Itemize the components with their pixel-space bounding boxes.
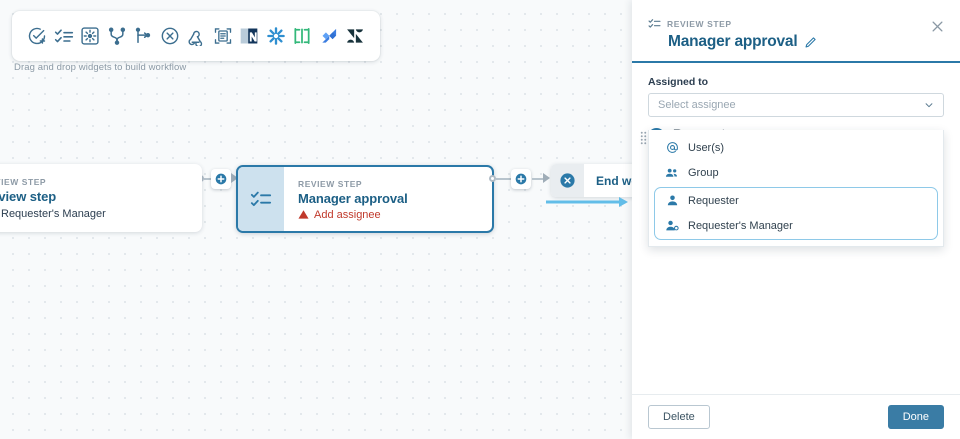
- workflow-node-manager-approval[interactable]: REVIEW STEP Manager approval Add assigne…: [236, 165, 494, 233]
- group-people-icon: [665, 166, 679, 180]
- connector-line-2: [496, 178, 511, 180]
- assignee-select-value: Select assignee: [658, 99, 736, 111]
- review-step-node-icon: [238, 167, 284, 231]
- assignee-select[interactable]: Select assignee: [648, 93, 944, 117]
- panel-body: Assigned to Select assignee: [632, 63, 960, 394]
- node-kicker: REVIEW STEP: [0, 177, 190, 187]
- assigned-to-label: Assigned to: [648, 76, 944, 88]
- dropdown-option-requester[interactable]: Requester: [655, 188, 937, 213]
- panel-kicker: REVIEW STEP: [648, 17, 944, 30]
- netsuite-icon[interactable]: [236, 23, 262, 49]
- done-button[interactable]: Done: [888, 405, 944, 429]
- add-node-button-1[interactable]: [211, 169, 231, 189]
- hint-pointer-arrow: [546, 196, 632, 208]
- review-step-icon[interactable]: [51, 23, 77, 49]
- settings-node-icon[interactable]: [77, 23, 103, 49]
- panel-footer: Delete Done: [632, 394, 960, 439]
- dropdown-option-group[interactable]: Group: [655, 160, 937, 186]
- node-warning: Add assignee: [298, 209, 480, 221]
- close-icon[interactable]: [930, 19, 945, 34]
- review-step-icon: [648, 17, 661, 30]
- dropdown-option-label: User(s): [688, 142, 724, 154]
- node-title: Manager approval: [298, 191, 480, 206]
- assignee-dropdown[interactable]: User(s) Group: [648, 130, 944, 247]
- widget-toolbar[interactable]: [12, 11, 380, 61]
- node-warning-label: Add assignee: [314, 209, 381, 221]
- step-details-panel: REVIEW STEP Manager approval Assigned to…: [632, 0, 960, 439]
- webhook-icon[interactable]: [183, 23, 209, 49]
- node-kicker: REVIEW STEP: [298, 179, 480, 189]
- asterisk-integration-icon[interactable]: [263, 23, 289, 49]
- dropdown-option-label: Requester: [688, 195, 739, 207]
- workflow-builder-app: Drag and drop widgets to build workflow …: [0, 0, 960, 439]
- node-title: Review step: [0, 189, 190, 204]
- dropdown-option-requesters-manager[interactable]: Requester's Manager: [655, 213, 937, 239]
- dropdown-option-users[interactable]: User(s): [655, 135, 937, 160]
- pencil-icon[interactable]: [804, 36, 817, 49]
- delete-button[interactable]: Delete: [648, 405, 710, 429]
- ironclad-icon[interactable]: [289, 23, 315, 49]
- node-body: REVIEW STEP Review step Requester's Mana…: [0, 164, 202, 232]
- node-assignee: Requester's Manager: [0, 207, 190, 220]
- end-workflow-icon[interactable]: [157, 23, 183, 49]
- add-node-button-2[interactable]: [511, 169, 531, 189]
- form-icon[interactable]: [210, 23, 236, 49]
- person-badge-icon: [665, 219, 679, 233]
- approval-check-icon[interactable]: [24, 23, 50, 49]
- person-icon: [665, 194, 679, 207]
- zendesk-icon[interactable]: [342, 23, 368, 49]
- canvas-hint: Drag and drop widgets to build workflow: [14, 62, 186, 73]
- drag-handle-icon[interactable]: [640, 131, 647, 145]
- branch-icon[interactable]: [104, 23, 130, 49]
- at-sign-icon: [665, 141, 679, 154]
- panel-header: REVIEW STEP Manager approval: [632, 0, 960, 63]
- connector-arrow-2: [543, 173, 550, 183]
- connector-dot-right: [489, 175, 496, 182]
- jira-icon[interactable]: [316, 23, 342, 49]
- workflow-node-end[interactable]: End workflow: [551, 164, 632, 197]
- dropdown-option-label: Group: [688, 167, 719, 179]
- chevron-down-icon: [924, 100, 934, 110]
- dropdown-option-label: Requester's Manager: [688, 220, 793, 232]
- workflow-canvas[interactable]: Drag and drop widgets to build workflow …: [0, 0, 632, 439]
- end-node-label: End workflow: [584, 174, 632, 188]
- page-title: Manager approval: [668, 33, 797, 51]
- condition-icon[interactable]: [130, 23, 156, 49]
- dropdown-group-highlighted: Requester Requester's Manager: [654, 187, 938, 240]
- node-assignee-label: Requester's Manager: [1, 208, 106, 220]
- node-body: REVIEW STEP Manager approval Add assigne…: [284, 167, 492, 231]
- close-circle-icon: [559, 172, 576, 189]
- panel-kicker-label: REVIEW STEP: [667, 19, 732, 29]
- end-workflow-node-icon: [551, 164, 584, 197]
- panel-title-row: Manager approval: [668, 33, 944, 51]
- warning-triangle-icon: [298, 209, 309, 220]
- workflow-node-review-step[interactable]: REVIEW STEP Review step Requester's Mana…: [0, 164, 202, 232]
- plus-icon: [515, 173, 527, 185]
- plus-icon: [215, 173, 227, 185]
- dropdown-group-plain: User(s) Group: [654, 134, 938, 187]
